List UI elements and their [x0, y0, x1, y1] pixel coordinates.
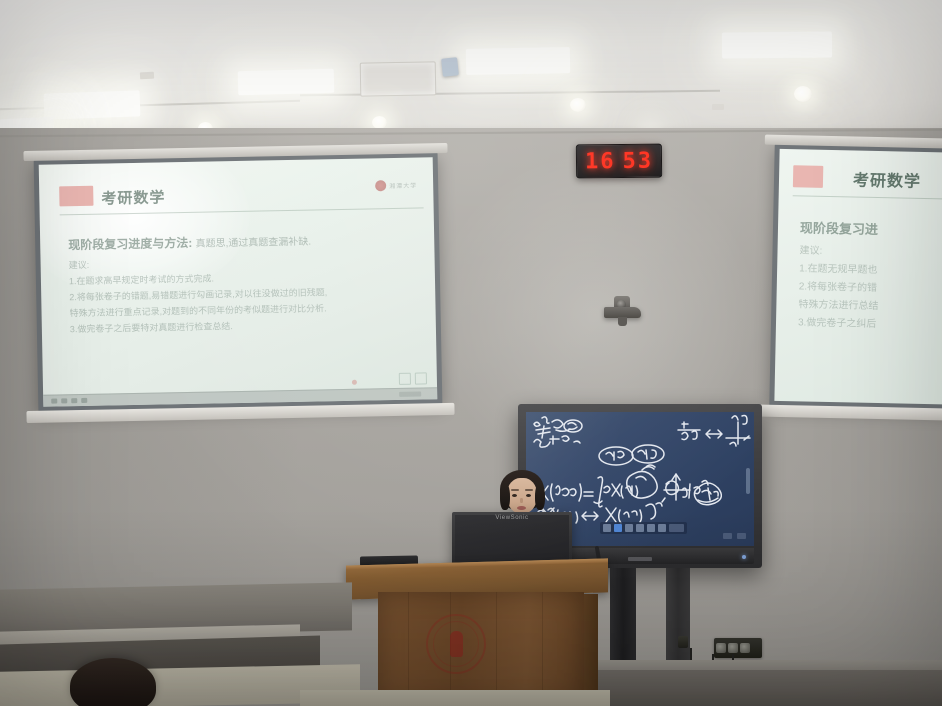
presenter-hair-left — [500, 482, 510, 510]
floor-front — [300, 690, 610, 706]
right-projection-screen[interactable]: 考研数学 现阶段复习进 建议: 1.在题无规早题也 2.将每张卷子的错 特殊方法… — [769, 144, 942, 410]
wood-grain — [408, 592, 409, 706]
presenter-nose — [520, 498, 523, 503]
presenter-hair-right — [535, 482, 545, 510]
wall-skirting — [598, 660, 942, 670]
ceiling-panel-light — [44, 90, 141, 119]
ceiling-panel-light — [722, 32, 832, 59]
slide-corner-icons — [399, 372, 427, 385]
camera-mount — [618, 317, 627, 326]
slide-heading-main: 现阶段复习进度与方法: — [68, 236, 192, 252]
toolbar-menu-icon[interactable] — [603, 524, 611, 532]
student-head — [70, 658, 156, 706]
university-emblem — [426, 614, 486, 674]
wood-grain — [496, 592, 497, 706]
slide-body-line: 2.将每张卷子的错 — [799, 277, 878, 294]
wooden-podium — [378, 592, 584, 706]
whiteboard-corner-controls[interactable] — [723, 533, 746, 539]
whiteboard-toolbar[interactable] — [600, 522, 687, 534]
floor — [598, 668, 942, 706]
slide-heading-sub: 真题思,通过真题查漏补缺. — [196, 237, 312, 250]
slide-body-line: 1.在题求高早规定时考试的方式完成. — [69, 271, 214, 287]
slide-body-line: 3.做完卷子之纠后 — [798, 313, 877, 330]
toolbar-eraser-icon[interactable] — [625, 524, 633, 532]
right-screen-surface: 考研数学 现阶段复习进 建议: 1.在题无规早题也 2.将每张卷子的错 特殊方法… — [774, 149, 942, 405]
slide-title-accent — [59, 186, 93, 207]
digital-wall-clock: 16 53 — [576, 144, 662, 179]
presenter-brow — [511, 489, 519, 491]
slide-body-line: 1.在题无规早题也 — [799, 259, 878, 276]
taskbar-item[interactable] — [71, 398, 77, 403]
slide-body-line: 特殊方法进行总结 — [798, 295, 878, 312]
ceiling-air-vent — [360, 61, 437, 96]
slide-logo: 湘潭大学 — [375, 180, 417, 192]
left-projection-screen[interactable]: 考研数学 湘潭大学 现阶段复习进度与方法: 真题思,通过真题查漏补缺. 建议: … — [34, 152, 443, 412]
whiteboard-control-icon[interactable] — [723, 533, 732, 539]
slide-body-line: 特殊方法进行重点记录,对题到的不同年份的考似题进行对比分析. — [69, 301, 326, 319]
left-screen-surface: 考研数学 湘潭大学 现阶段复习进度与方法: 真题思,通过真题查漏补缺. 建议: … — [39, 157, 438, 407]
ceiling-fixture — [712, 104, 724, 110]
toolbar-shape-icon[interactable] — [636, 524, 644, 532]
taskbar-item[interactable] — [51, 398, 57, 403]
outlet-socket-icon[interactable] — [740, 643, 750, 653]
taskbar-clock — [399, 392, 421, 397]
clock-hours: 16 — [585, 149, 616, 174]
slide-body-line: 3.做完卷子之后要特对真题进行检查总结. — [70, 319, 233, 335]
wall-power-outlet-single[interactable] — [678, 636, 688, 648]
slide-title: 考研数学 — [101, 186, 165, 208]
slide-title-rule — [60, 207, 424, 215]
slide-title-rule — [793, 195, 942, 200]
slide-body-line: 建议: — [799, 241, 822, 256]
slide-logo-text: 湘潭大学 — [389, 181, 417, 191]
toolbar-select-icon[interactable] — [658, 524, 666, 532]
ceiling-projector-mount — [441, 57, 459, 77]
monitor-brand-label: ViewSonic — [495, 515, 528, 521]
wall-mounted-ptz-camera — [604, 296, 642, 328]
ceiling-panel-light — [466, 47, 570, 75]
slide-title: 考研数学 — [853, 166, 922, 191]
slide-icon — [399, 373, 411, 385]
outlet-socket-icon[interactable] — [728, 643, 738, 653]
toolbar-more-icon[interactable] — [669, 524, 684, 532]
whiteboard-brand-mark — [628, 557, 652, 561]
ceiling-downlight — [794, 86, 812, 102]
ceiling-downlight — [570, 98, 586, 112]
slide-icon — [415, 372, 427, 384]
slide-page-marker — [352, 380, 357, 385]
whiteboard-side-handle[interactable] — [746, 468, 750, 494]
clock-minutes: 53 — [622, 148, 653, 173]
emblem-ring — [433, 621, 479, 667]
ceiling-fixture — [140, 72, 154, 80]
wood-grain — [542, 592, 543, 706]
slide-heading: 现阶段复习进 — [800, 217, 878, 238]
toolbar-text-icon[interactable] — [647, 524, 655, 532]
presenter-eye — [512, 494, 517, 497]
slide-logo-mark — [375, 180, 386, 191]
presenter-mouth — [517, 506, 526, 510]
slide-heading: 现阶段复习进度与方法: 真题思,通过真题查漏补缺. — [68, 232, 311, 254]
slide-body-line: 2.将每张卷子的错题,易错题进行勾画记录,对以往没做过的旧残题, — [69, 285, 327, 303]
presenter-eye — [526, 494, 531, 497]
power-led-icon — [742, 555, 746, 559]
whiteboard-control-icon[interactable] — [737, 533, 746, 539]
lecture-hall-photo: 考研数学 湘潭大学 现阶段复习进度与方法: 真题思,通过真题查漏补缺. 建议: … — [0, 0, 942, 706]
slide-body-line: 建议: — [69, 258, 90, 271]
presenter-brow — [525, 489, 533, 491]
taskbar-item[interactable] — [81, 398, 87, 403]
outlet-socket-icon[interactable] — [716, 643, 726, 653]
monitor-display[interactable] — [455, 515, 569, 563]
screen-top-bar — [765, 135, 942, 150]
toolbar-pen-icon[interactable] — [614, 524, 622, 532]
slide-title-accent — [793, 165, 823, 188]
taskbar-item[interactable] — [61, 398, 67, 403]
ceiling-panel-light — [238, 69, 335, 96]
